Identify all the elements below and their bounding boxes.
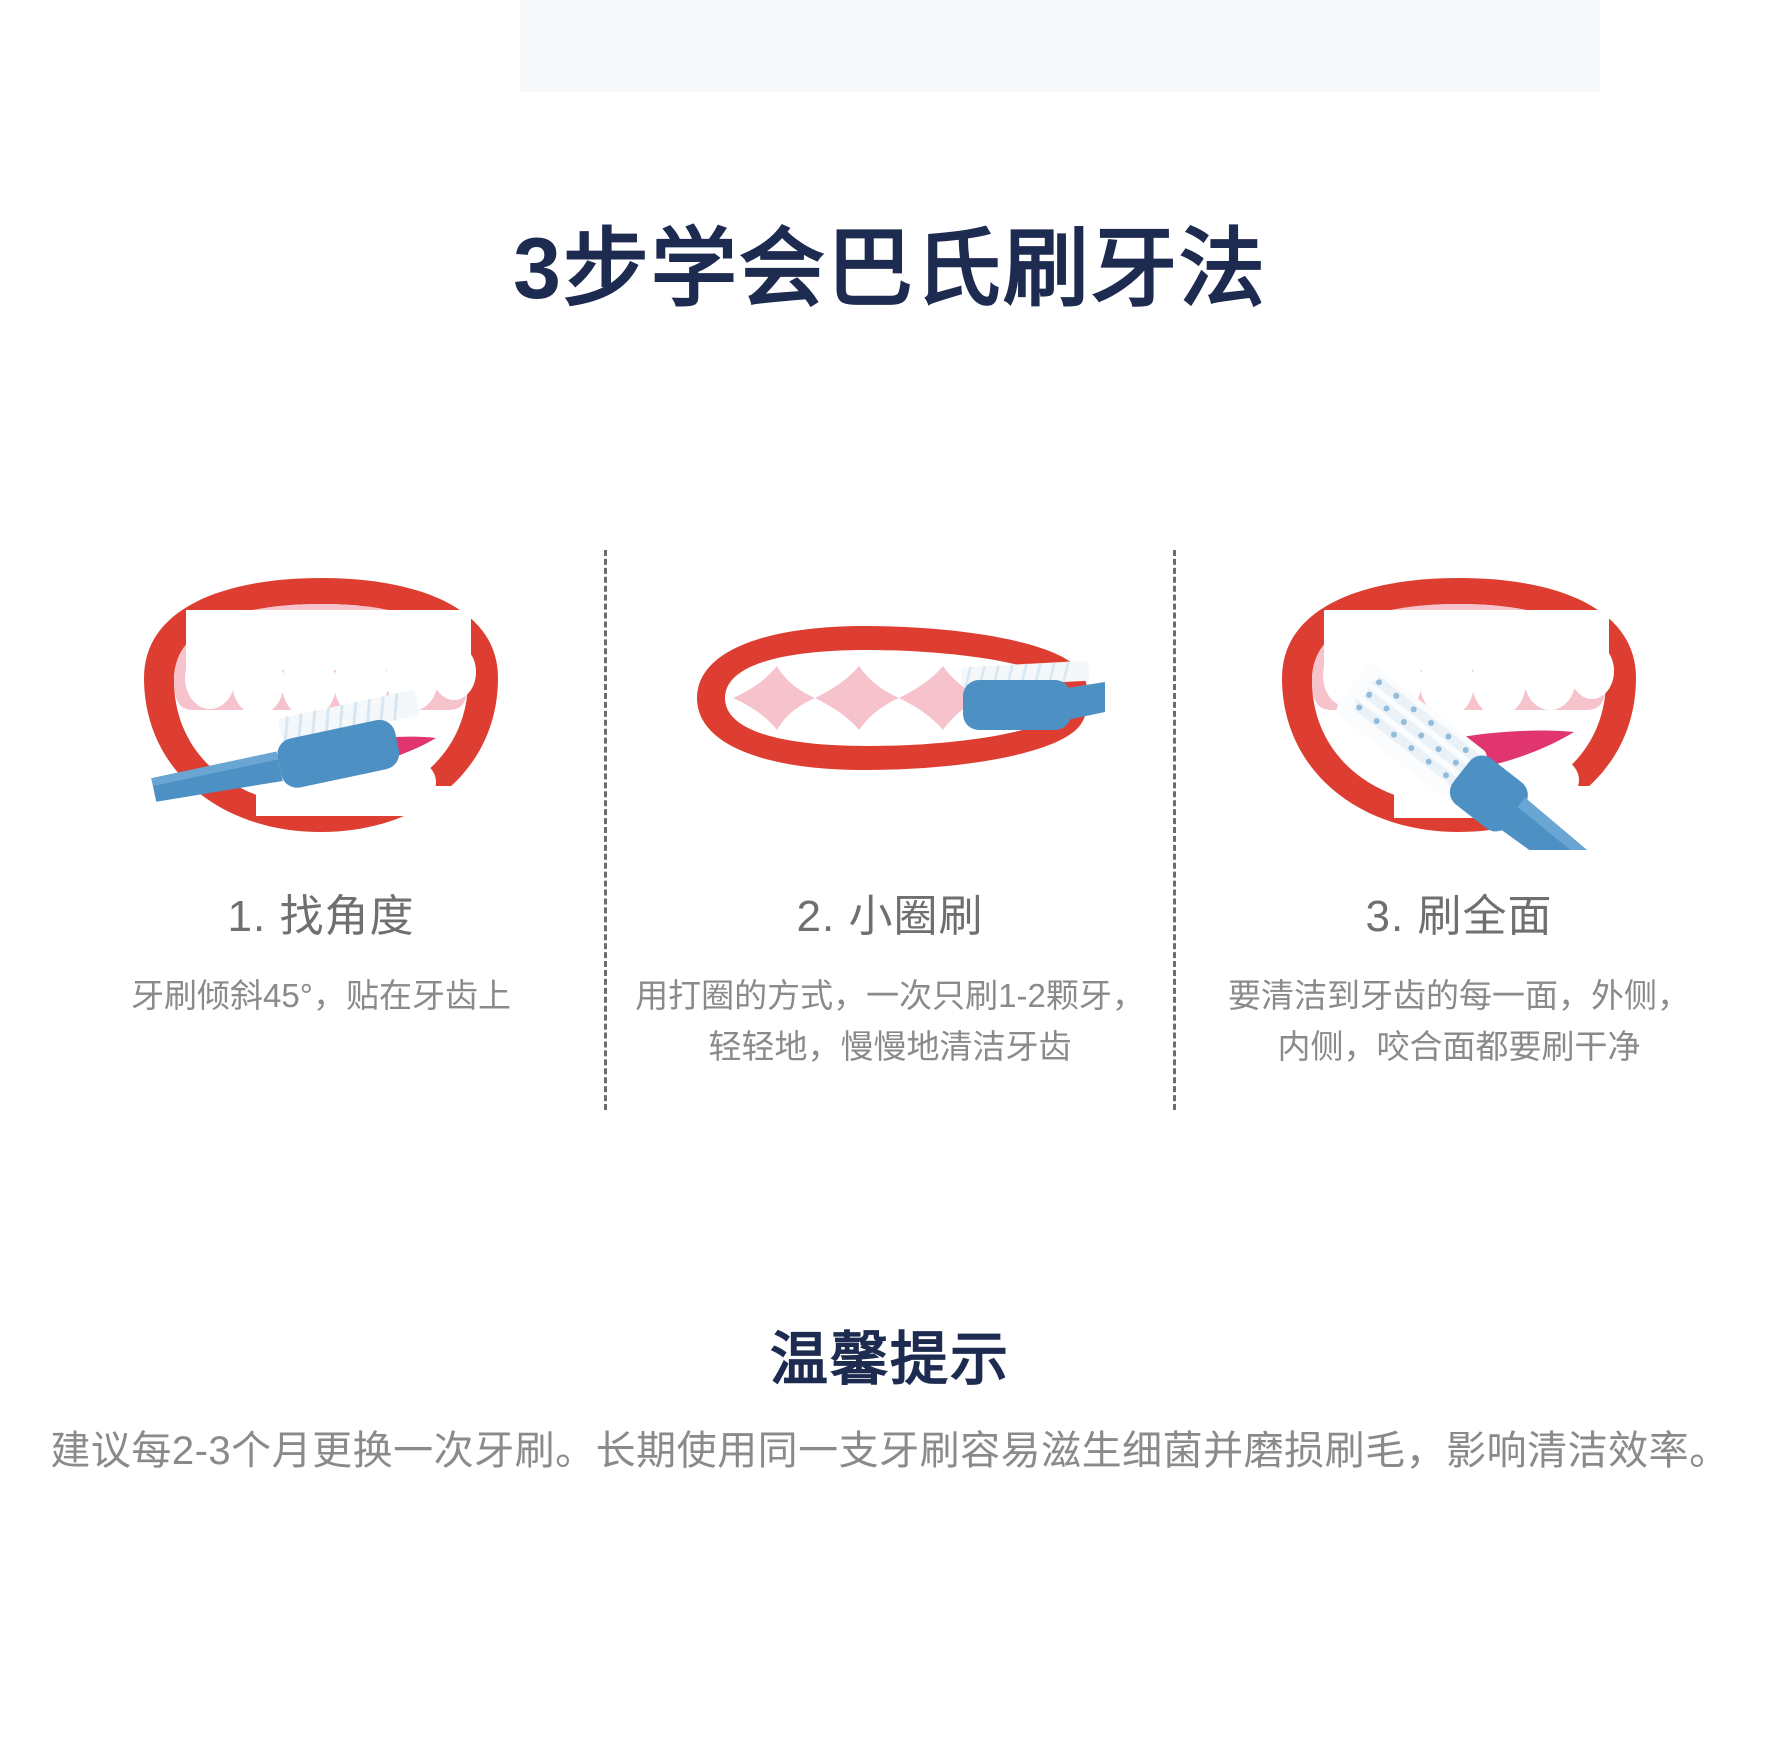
illustration-brush-all-surfaces xyxy=(1244,560,1674,850)
step-2-description: 用打圈的方式，一次只刷1-2颗牙， 轻轻地，慢慢地清洁牙齿 xyxy=(635,970,1145,1072)
top-band xyxy=(520,0,1600,92)
step-3: 3. 刷全面 要清洁到牙齿的每一面，外侧， 内侧，咬合面都要刷干净 xyxy=(1176,560,1742,1072)
tips-heading: 温馨提示 xyxy=(0,1312,1780,1396)
step-3-description-line-1: 要清洁到牙齿的每一面，外侧， xyxy=(1204,970,1714,1021)
step-2-description-line-1: 用打圈的方式，一次只刷1-2颗牙， xyxy=(635,970,1145,1021)
step-3-description-line-2: 内侧，咬合面都要刷干净 xyxy=(1204,1021,1714,1072)
infographic-page: 3步学会巴氏刷牙法 xyxy=(0,0,1780,1758)
step-2-title: 2. 小圈刷 xyxy=(797,880,984,944)
step-2-description-line-2: 轻轻地，慢慢地清洁牙齿 xyxy=(635,1021,1145,1072)
illustration-find-angle xyxy=(106,560,536,850)
step-3-description: 要清洁到牙齿的每一面，外侧， 内侧，咬合面都要刷干净 xyxy=(1204,970,1714,1072)
step-2: 2. 小圈刷 用打圈的方式，一次只刷1-2颗牙， 轻轻地，慢慢地清洁牙齿 xyxy=(607,560,1173,1072)
steps-row: 1. 找角度 牙刷倾斜45°，贴在牙齿上 xyxy=(0,560,1780,1110)
tips-body: 建议每2-3个月更换一次牙刷。长期使用同一支牙刷容易滋生细菌并磨损刷毛，影响清洁… xyxy=(0,1418,1780,1476)
page-title: 3步学会巴氏刷牙法 xyxy=(0,198,1780,323)
illustration-small-circles xyxy=(675,560,1105,850)
step-3-title: 3. 刷全面 xyxy=(1366,880,1553,944)
step-1-description: 牙刷倾斜45°，贴在牙齿上 xyxy=(66,970,576,1021)
step-1: 1. 找角度 牙刷倾斜45°，贴在牙齿上 xyxy=(38,560,604,1021)
step-1-title: 1. 找角度 xyxy=(228,880,415,944)
